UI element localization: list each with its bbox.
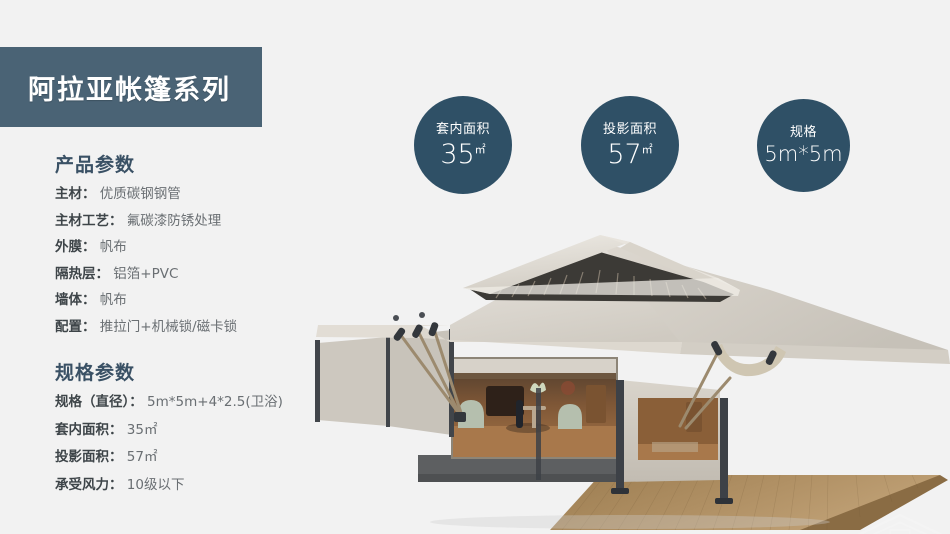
post-center: [616, 380, 624, 492]
interior-header-beam: [452, 373, 617, 379]
rod-anchor-left: [454, 412, 466, 422]
spec-key: 隔热层：: [55, 266, 109, 282]
spec-row: 隔热层： 铝箔+PVC: [55, 266, 330, 284]
badge-unit: ㎡: [642, 143, 653, 156]
slide-canvas: 阿拉亚帐篷系列 产品参数 主材： 优质碳钢钢管 主材工艺： 氟碳漆防锈处理 外膜…: [0, 0, 950, 534]
badge-label: 投影面积: [603, 123, 657, 136]
spec-key: 套内面积：: [55, 422, 123, 438]
post-center-foot: [611, 488, 629, 494]
badge-value: 35㎡: [440, 141, 485, 168]
post-right: [720, 398, 728, 502]
spec-row: 规格（直径）： 5m*5m+4*2.5(卫浴): [55, 394, 330, 412]
badge-number: 5m*5m: [764, 142, 842, 166]
wall-art: [561, 381, 575, 395]
spec-row: 外膜： 帆布: [55, 239, 330, 257]
roof-pin-b: [419, 312, 425, 318]
spec-row: 主材： 优质碳钢钢管: [55, 186, 330, 204]
spec-key: 规格（直径）：: [55, 394, 143, 410]
title-banner: 阿拉亚帐篷系列: [0, 47, 262, 127]
badge-value: 5m*5m: [764, 144, 842, 165]
spec-value: 帆布: [100, 239, 127, 255]
wing-post-mid: [386, 335, 390, 427]
spec-key: 承受风力：: [55, 477, 123, 493]
spec-value: 氟碳漆防锈处理: [127, 213, 222, 229]
spec-value: 优质碳钢钢管: [100, 186, 181, 202]
cabinet-right: [586, 385, 606, 423]
tent-render-svg: [300, 230, 950, 530]
spec-value: 推拉门+机械锁/磁卡锁: [100, 319, 237, 335]
armchair-right: [558, 404, 582, 429]
ground-shadow: [430, 515, 830, 529]
badge-projected-area: 投影面积 57㎡: [581, 96, 679, 194]
badge-label: 套内面积: [436, 123, 490, 136]
post-far-right: [536, 388, 541, 480]
spec-key: 投影面积：: [55, 449, 123, 465]
spec-row: 承受风力： 10级以下: [55, 477, 330, 495]
badge-label: 规格: [790, 126, 817, 139]
badge-number: 57: [607, 139, 641, 170]
figure: [516, 400, 523, 428]
spec-row: 配置： 推拉门+机械锁/磁卡锁: [55, 319, 330, 337]
stone-base-shadow: [418, 474, 620, 482]
roof-pin-a: [393, 315, 399, 321]
spec-params-list: 规格（直径）： 5m*5m+4*2.5(卫浴) 套内面积： 35㎡ 投影面积： …: [0, 394, 330, 494]
product-params-heading: 产品参数: [55, 150, 330, 177]
spec-row: 套内面积： 35㎡: [55, 422, 330, 440]
badge-number: 35: [440, 139, 474, 170]
spec-params-heading: 规格参数: [55, 358, 330, 385]
spec-value: 35㎡: [127, 422, 158, 438]
spec-key: 主材工艺：: [55, 213, 123, 229]
spec-key: 外膜：: [55, 239, 96, 255]
side-table: [522, 406, 546, 410]
interior-ceiling-band: [452, 358, 617, 373]
spec-value: 10级以下: [127, 477, 185, 493]
badge-unit: ㎡: [475, 143, 486, 156]
spec-value: 5m*5m+4*2.5(卫浴): [147, 394, 283, 410]
spec-row: 主材工艺： 氟碳漆防锈处理: [55, 213, 330, 231]
spec-key: 主材：: [55, 186, 96, 202]
table-leg: [532, 410, 536, 428]
badge-dimensions: 规格 5m*5m: [757, 99, 850, 192]
left-wing-panel-outer: [318, 337, 388, 426]
spec-row: 墙体： 帆布: [55, 292, 330, 310]
spec-key: 配置：: [55, 319, 96, 335]
page-title: 阿拉亚帐篷系列: [28, 68, 231, 107]
post-right-foot: [715, 498, 733, 504]
wing-post-left: [315, 340, 320, 422]
right-rug: [652, 442, 698, 452]
tent-illustration: 蓬利帐房 TENT: [300, 230, 950, 530]
spec-value: 57㎡: [127, 449, 158, 465]
specs-column: 产品参数 主材： 优质碳钢钢管 主材工艺： 氟碳漆防锈处理 外膜： 帆布 隔热层…: [0, 150, 330, 504]
badge-value: 57㎡: [607, 141, 652, 168]
spec-key: 墙体：: [55, 292, 96, 308]
spec-row: 投影面积： 57㎡: [55, 449, 330, 467]
spec-value: 帆布: [100, 292, 127, 308]
spec-value: 铝箔+PVC: [113, 266, 178, 282]
product-params-list: 主材： 优质碳钢钢管 主材工艺： 氟碳漆防锈处理 外膜： 帆布 隔热层： 铝箔+…: [0, 186, 330, 336]
badge-indoor-area: 套内面积 35㎡: [414, 96, 512, 194]
